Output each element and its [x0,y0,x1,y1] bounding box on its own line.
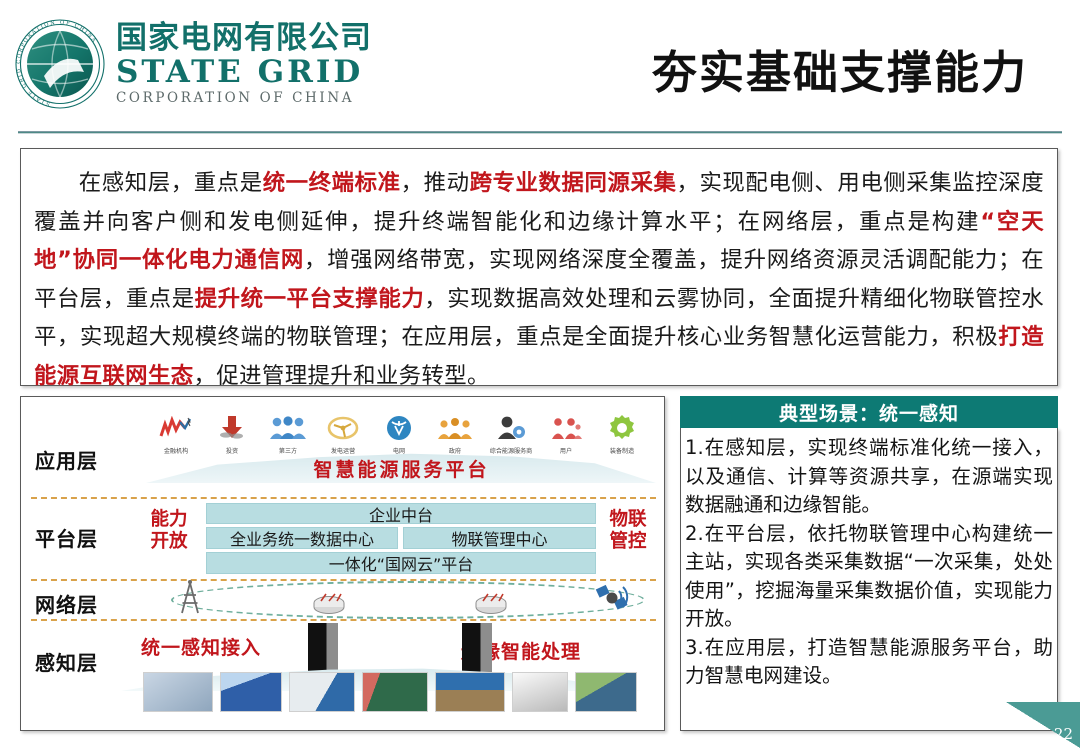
state-grid-logo: STATE GRID CORPORATION OF CHINA 国家电网有限公司… [14,18,372,110]
iot-control-line1: 物联 [599,509,657,531]
application-actor-row: 金融机构 投资 第三方 [149,409,649,455]
layer-label-sensing: 感知层 [35,647,98,676]
platform-box-state-grid-cloud: 一体化“国网云”平台 [206,552,596,574]
chart-line-icon [149,413,203,443]
separator-platform-network [31,579,656,581]
actor-grid: 电网 [372,413,426,455]
photo-ev-charging [289,672,355,712]
state-grid-logo-mark: STATE GRID CORPORATION OF CHINA [14,18,106,110]
router-icon [471,589,511,619]
panel-item-3: 3.在应用层，打造智慧能源服务平台，助力智慧电网建设。 [685,634,1053,691]
paragraph-text: 在感知层，重点是 [79,170,263,196]
paragraph-highlight: 统一终端标准 [263,170,401,196]
turbine-ring-icon [316,413,370,443]
page-number: 22 [1054,725,1073,743]
people-group-icon [261,413,315,443]
gear-icon [595,413,649,443]
summary-text-box: 在感知层，重点是统一终端标准，推动跨专业数据同源采集，实现配电侧、用电侧采集监控… [20,148,1058,386]
actor-third-party: 第三方 [261,413,315,455]
platform-box-iot-management-center: 物联管理中心 [403,527,596,549]
actor-label: 用户 [541,445,591,454]
actor-label: 第三方 [263,445,313,454]
actor-label: 投资 [207,445,257,454]
layer-label-network: 网络层 [35,589,98,618]
logo-company-en: STATE GRID [116,57,372,88]
router-icon [309,589,349,619]
photo-substation [143,672,213,712]
capability-opening-line2: 开放 [139,531,199,553]
state-grid-logo-text: 国家电网有限公司 STATE GRID CORPORATION OF CHINA [116,23,372,106]
layer-label-application: 应用层 [35,445,98,474]
iot-control-line2: 管控 [599,531,657,553]
actor-government: 政府 [428,413,482,455]
actor-label: 政府 [430,445,480,454]
summary-paragraph: 在感知层，重点是统一终端标准，推动跨专业数据同源采集，实现配电侧、用电侧采集监控… [21,149,1057,395]
paragraph-text: ，促进管理提升和业务转型。 [194,363,490,389]
photo-field-device [575,672,637,712]
satellite-icon [591,581,637,621]
platform-box-unified-data-center: 全业务统一数据中心 [206,527,398,549]
page-title: 夯实基础支撑能力 [652,36,1028,101]
separator-application-platform [31,497,656,499]
slide-header: STATE GRID CORPORATION OF CHINA 国家电网有限公司… [0,0,1080,126]
actor-finance: 金融机构 [149,413,203,455]
actor-equipment-manufacturing: 装备制造 [595,413,649,455]
architecture-diagram: 应用层 平台层 网络层 感知层 金融机构 [20,396,665,731]
down-arrow-coins-icon [205,413,259,443]
paragraph-highlight: 跨专业数据同源采集 [470,170,677,196]
photo-cable-reel [362,672,428,712]
cell-tower-icon [173,579,207,621]
photo-wind-farm [435,672,505,712]
panel-item-2: 2.在平台层，依托物联管理中心构建统一主站，实现各类采集数据“一次采集，处处使用… [685,520,1053,634]
iot-control-label: 物联 管控 [599,509,657,553]
actor-customer: 用户 [539,413,593,455]
crowd-icon [428,413,482,443]
photo-cameras [512,672,568,712]
logo-company-cn: 国家电网有限公司 [116,23,372,54]
panel-item-1: 1.在感知层，实现终端标准化统一接入，以及通信、计算等资源共享，在源端实现数据融… [685,434,1053,520]
actor-power-generation: 发电运营 [316,413,370,455]
capability-opening-line1: 能力 [139,509,199,531]
family-icon [539,413,593,443]
unified-sensing-access-label: 统一感知接入 [141,633,261,660]
actor-energy-service-provider: 综合能源服务商 [484,413,538,455]
user-gear-icon [484,413,538,443]
logo-company-sub: CORPORATION OF CHINA [116,92,372,106]
actor-investment: 投资 [205,413,259,455]
photo-solar-panels [220,672,282,712]
actor-label: 电网 [374,445,424,454]
separator-network-sensing [31,619,656,621]
capability-opening-label: 能力 开放 [139,509,199,553]
paragraph-highlight: 提升统一平台支撑能力 [195,286,425,312]
actor-label: 金融机构 [151,445,201,454]
actor-label: 发电运营 [318,445,368,454]
paragraph-text: ，推动 [401,170,470,196]
actor-label: 综合能源服务商 [486,445,536,454]
sensing-photo-strip [143,671,653,713]
network-orbit-ellipse [171,581,645,619]
header-divider [18,131,1062,134]
panel-body: 1.在感知层，实现终端标准化统一接入，以及通信、计算等资源共享，在源端实现数据融… [680,428,1058,731]
smart-energy-platform-title: 智慧能源服务平台 [149,455,654,482]
grid-globe-icon [372,413,426,443]
actor-label: 装备制造 [597,445,647,454]
typical-scenario-panel: 典型场景：统一感知 1.在感知层，实现终端标准化统一接入，以及通信、计算等资源共… [680,396,1058,731]
platform-box-enterprise-midend: 企业中台 [206,503,596,524]
panel-title: 典型场景：统一感知 [680,396,1058,428]
layer-label-platform: 平台层 [35,523,98,552]
